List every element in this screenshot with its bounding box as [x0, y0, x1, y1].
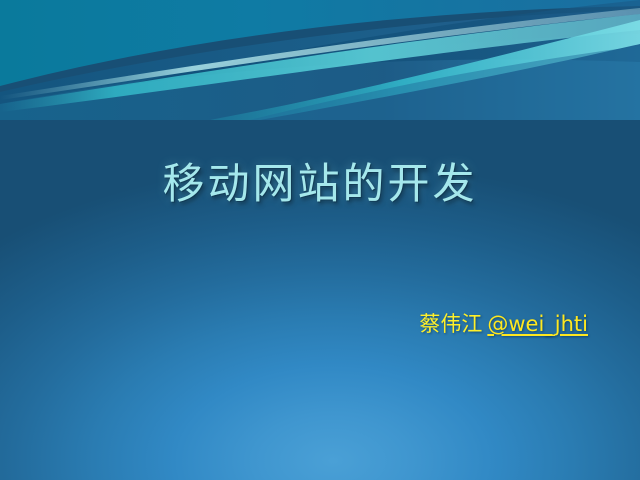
wave-ribbon-cyan: [0, 14, 640, 112]
top-wave-decoration: [0, 0, 640, 120]
wave-band-deep: [0, 10, 640, 120]
wave-ribbons-svg: [0, 0, 640, 120]
wave-band-mid: [0, 34, 640, 120]
title-placeholder: 移动网站的开发: [0, 160, 640, 207]
wave-band-dark-upper: [120, 0, 640, 86]
title-slide: 移动网站的开发 蔡伟江@wei_jhti: [0, 0, 640, 480]
subtitle-placeholder: 蔡伟江@wei_jhti: [0, 312, 640, 337]
wave-ribbon-cyan-right: [210, 20, 640, 120]
wave-band-teal-top: [0, 0, 640, 86]
subtitle-line: 蔡伟江@wei_jhti: [419, 312, 588, 337]
wave-band-corner: [250, 46, 640, 120]
author-name: 蔡伟江: [419, 312, 482, 336]
wave-highlight-line: [0, 8, 640, 100]
page-title: 移动网站的开发: [162, 160, 477, 207]
author-handle-link[interactable]: @wei_jhti: [487, 312, 588, 336]
